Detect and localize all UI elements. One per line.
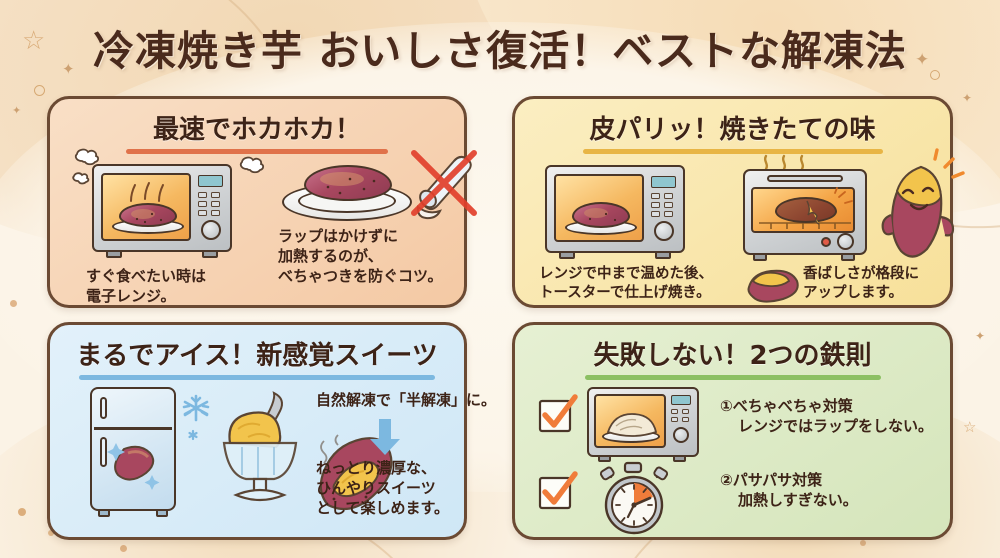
card-toaster-title: 皮パリッ！焼きたての味 [515,109,950,146]
rule-1-number: ① [720,397,733,415]
rule-1-detail: レンジではラップをしない。 [720,417,933,437]
microwave-oven-icon [587,387,699,465]
sweet-potato-mascot-icon [875,157,959,261]
sparkle-icon: ✦ [962,92,972,104]
steam-icon [758,145,818,171]
poster-title-area: 冷凍焼き芋 おいしさ復活！ベストな解凍法 [0,17,1000,77]
caption-frozen-top: 自然解凍で「半解凍」に。 [316,391,496,411]
caption-frozen-bottom: ねっとり濃厚な、 ひんやりスイーツ として楽しめます。 [316,459,449,518]
sparkle-icon: ✦ [975,330,985,342]
dot-decoration [860,540,866,546]
steam-icon [233,147,279,187]
rule-2-heading: パサパサ対策 [733,471,822,489]
card-rules: 失敗しない！2つの鉄則 [512,322,953,540]
dot-decoration [18,508,26,516]
card-frozen-sweets-title: まるでアイス！新感覚スイーツ [50,335,464,372]
rule-2-text: ②パサパサ対策 加熱しすぎない。 [720,471,858,511]
red-cross-icon [414,153,474,213]
cut-sweet-potato-icon [743,267,801,303]
rule-2-number: ② [720,471,733,489]
microwave-oven-icon [545,165,685,260]
ice-cream-bowl-icon [208,387,312,517]
card-microwave: 最速でホカホカ！ [47,96,467,308]
checkbox-checked-icon[interactable] [537,395,577,435]
card-toaster: 皮パリッ！焼きたての味 [512,96,953,308]
caption-toaster-left: レンジで中まで温めた後、 トースターで仕上げ焼き。 [539,265,713,303]
caption-microwave-left: すぐ食べたい時は 電子レンジ。 [86,267,206,307]
title-underline [585,375,881,380]
rule-2-detail: 加熱しすぎない。 [720,491,858,511]
dot-decoration [34,85,45,96]
rule-1-heading: べちゃべちゃ対策 [733,397,853,415]
rule-1-text: ①べちゃべちゃ対策 レンジではラップをしない。 [720,397,933,437]
caption-toaster-right: 香ばしさが格段に アップします。 [803,265,919,303]
title-underline [79,375,435,380]
down-arrow-icon [368,417,402,457]
plastic-wrap-roll-icon [408,147,480,221]
card-rules-title: 失敗しない！2つの鉄則 [515,335,950,372]
dot-decoration [10,300,17,307]
infographic-poster: ☆ ✦ ✦ ✦ ✦ ✦ ✦ ☆ 冷凍焼き芋 おいしさ復活！ベストな解凍法 最速で… [0,0,1000,558]
sweet-potato-on-plate-icon [282,161,412,223]
card-frozen-sweets: まるでアイス！新感覚スイーツ [47,322,467,540]
microwave-oven-icon [92,164,232,259]
caption-microwave-right: ラップはかけずに 加熱するのが、 べちゃつきを防ぐコツ。 [278,227,443,286]
page-title: 冷凍焼き芋 おいしさ復活！ベストな解凍法 [0,17,1000,77]
dot-decoration [120,545,127,552]
sparkle-icon: ✦ [12,105,21,116]
refrigerator-icon [90,387,176,519]
title-underline [583,149,883,154]
stopwatch-icon [595,461,673,537]
star-icon: ☆ [963,420,976,435]
checkbox-checked-icon[interactable] [537,472,577,512]
toaster-oven-icon [743,169,867,263]
